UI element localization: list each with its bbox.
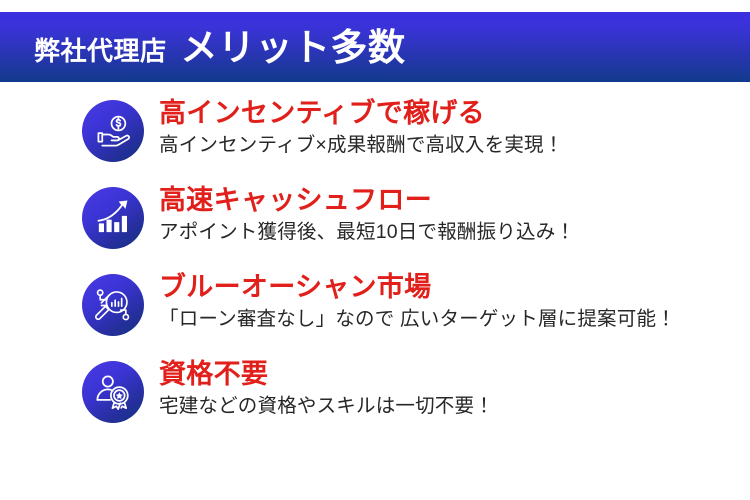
person-award-badge-icon — [82, 361, 144, 423]
feature-item-no-license: 資格不要 宅建などの資格やスキルは一切不要！ — [0, 357, 750, 444]
magnifier-chart-analysis-icon — [82, 274, 144, 336]
title-headline: メリット多数 — [181, 29, 406, 66]
growth-chart-arrow-icon — [82, 187, 144, 249]
feature-text-block: 高速キャッシュフロー アポイント獲得後、最短10日で報酬振り込み！ — [159, 183, 575, 245]
feature-text-block: 資格不要 宅建などの資格やスキルは一切不要！ — [159, 357, 494, 419]
feature-item-cashflow: 高速キャッシュフロー アポイント獲得後、最短10日で報酬振り込み！ — [0, 183, 750, 270]
feature-text-block: 高インセンティブで稼げる 高インセンティブ×成果報酬で高収入を実現！ — [159, 96, 563, 158]
feature-item-incentive: 高インセンティブで稼げる 高インセンティブ×成果報酬で高収入を実現！ — [0, 96, 750, 183]
hand-holding-coin-icon — [82, 100, 144, 162]
slide-root: 弊社代理店 メリット多数 高インセンティブで稼げる 高インセンティブ×成果報酬で… — [0, 0, 750, 500]
feature-heading: ブルーオーシャン市場 — [159, 272, 676, 304]
feature-heading: 高インセンティブで稼げる — [159, 98, 563, 130]
feature-subtitle: アポイント獲得後、最短10日で報酬振り込み！ — [159, 220, 575, 245]
feature-heading: 高速キャッシュフロー — [159, 185, 575, 217]
header-banner: 弊社代理店 メリット多数 — [0, 12, 750, 82]
title-kicker: 弊社代理店 — [34, 38, 167, 64]
feature-subtitle: 「ローン審査なし」なので 広いターゲット層に提案可能！ — [159, 307, 676, 332]
feature-list: 高インセンティブで稼げる 高インセンティブ×成果報酬で高収入を実現！ 高速キャッ… — [0, 96, 750, 444]
feature-heading: 資格不要 — [159, 359, 494, 391]
page-title: 弊社代理店 メリット多数 — [34, 29, 406, 66]
feature-item-blue-ocean: ブルーオーシャン市場 「ローン審査なし」なので 広いターゲット層に提案可能！ — [0, 270, 750, 357]
feature-subtitle: 高インセンティブ×成果報酬で高収入を実現！ — [159, 133, 563, 158]
feature-subtitle: 宅建などの資格やスキルは一切不要！ — [159, 394, 494, 419]
feature-text-block: ブルーオーシャン市場 「ローン審査なし」なので 広いターゲット層に提案可能！ — [159, 270, 676, 332]
